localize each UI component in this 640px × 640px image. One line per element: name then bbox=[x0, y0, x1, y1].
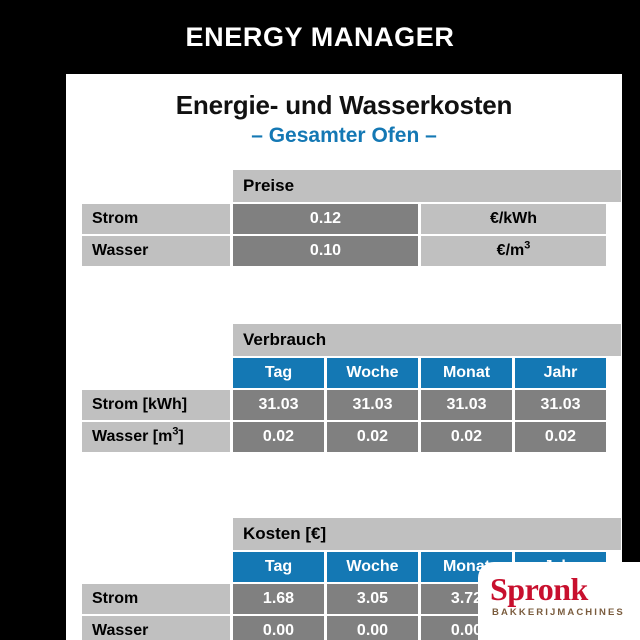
prices-row-label: Wasser bbox=[82, 236, 230, 266]
consumption-cell: 0.02 bbox=[515, 422, 606, 452]
consumption-table: Verbrauch Tag Woche Monat Jahr Strom [kW… bbox=[82, 324, 621, 454]
prices-unit-base: €/m bbox=[497, 242, 525, 259]
column-header-monat: Monat bbox=[421, 358, 512, 388]
table-row: Strom 0.12 €/kWh bbox=[82, 204, 621, 234]
consumption-cell: 0.02 bbox=[327, 422, 418, 452]
costs-cell: 0.00 bbox=[233, 616, 324, 640]
screen-root: ENERGY MANAGER Energie- und Wasserkosten… bbox=[0, 0, 640, 640]
consumption-cell: 0.02 bbox=[421, 422, 512, 452]
prices-row-unit: €/kWh bbox=[421, 204, 606, 234]
prices-caption-spacer bbox=[82, 170, 230, 200]
prices-row-unit: €/m3 bbox=[421, 236, 606, 266]
consumption-label-base: Wasser [m bbox=[92, 428, 172, 445]
prices-row-label: Strom bbox=[82, 204, 230, 234]
column-header-woche: Woche bbox=[327, 358, 418, 388]
consumption-cell: 0.02 bbox=[233, 422, 324, 452]
column-header-jahr: Jahr bbox=[515, 358, 606, 388]
app-header: ENERGY MANAGER bbox=[0, 0, 640, 74]
app-title: ENERGY MANAGER bbox=[186, 22, 455, 53]
costs-caption-row: Kosten [€] bbox=[82, 518, 621, 550]
prices-row-value: 0.12 bbox=[233, 204, 418, 234]
costs-cell: 1.68 bbox=[233, 584, 324, 614]
consumption-cell: 31.03 bbox=[327, 390, 418, 420]
column-header-tag: Tag bbox=[233, 552, 324, 582]
spronk-logo: Spronk BAKKERIJMACHINES bbox=[478, 562, 640, 640]
costs-caption: Kosten [€] bbox=[233, 518, 621, 550]
consumption-cell: 31.03 bbox=[421, 390, 512, 420]
prices-caption: Preise bbox=[233, 170, 621, 202]
costs-caption-spacer bbox=[82, 518, 230, 548]
consumption-cell: 31.03 bbox=[233, 390, 324, 420]
consumption-cell: 31.03 bbox=[515, 390, 606, 420]
consumption-label-tail: ] bbox=[178, 428, 183, 445]
consumption-caption-row: Verbrauch bbox=[82, 324, 621, 356]
costs-row-label: Wasser bbox=[82, 616, 230, 640]
costs-row-label: Strom bbox=[82, 584, 230, 614]
column-header-woche: Woche bbox=[327, 552, 418, 582]
consumption-caption-spacer bbox=[82, 324, 230, 354]
costs-cell: 0.00 bbox=[327, 616, 418, 640]
consumption-caption: Verbrauch bbox=[233, 324, 621, 356]
table-row: Strom [kWh] 31.03 31.03 31.03 31.03 bbox=[82, 390, 621, 420]
costs-cell: 3.05 bbox=[327, 584, 418, 614]
spronk-brand-text: Spronk bbox=[490, 571, 588, 608]
consumption-row-label: Strom [kWh] bbox=[82, 390, 230, 420]
consumption-header-spacer bbox=[82, 358, 230, 388]
spronk-tagline: BAKKERIJMACHINES bbox=[492, 607, 625, 618]
table-row: Wasser [m3] 0.02 0.02 0.02 0.02 bbox=[82, 422, 621, 452]
consumption-header-row: Tag Woche Monat Jahr bbox=[82, 358, 621, 388]
page-subtitle: – Gesamter Ofen – bbox=[66, 124, 622, 148]
prices-unit-exponent: 3 bbox=[524, 240, 530, 252]
report-panel: Energie- und Wasserkosten – Gesamter Ofe… bbox=[66, 74, 622, 640]
prices-table: Preise Strom 0.12 €/kWh Wasser 0.10 €/m3 bbox=[82, 170, 621, 268]
table-row: Wasser 0.10 €/m3 bbox=[82, 236, 621, 266]
prices-caption-row: Preise bbox=[82, 170, 621, 202]
costs-header-spacer bbox=[82, 552, 230, 582]
column-header-tag: Tag bbox=[233, 358, 324, 388]
prices-row-value: 0.10 bbox=[233, 236, 418, 266]
page-title: Energie- und Wasserkosten bbox=[66, 90, 622, 121]
consumption-row-label: Wasser [m3] bbox=[82, 422, 230, 452]
